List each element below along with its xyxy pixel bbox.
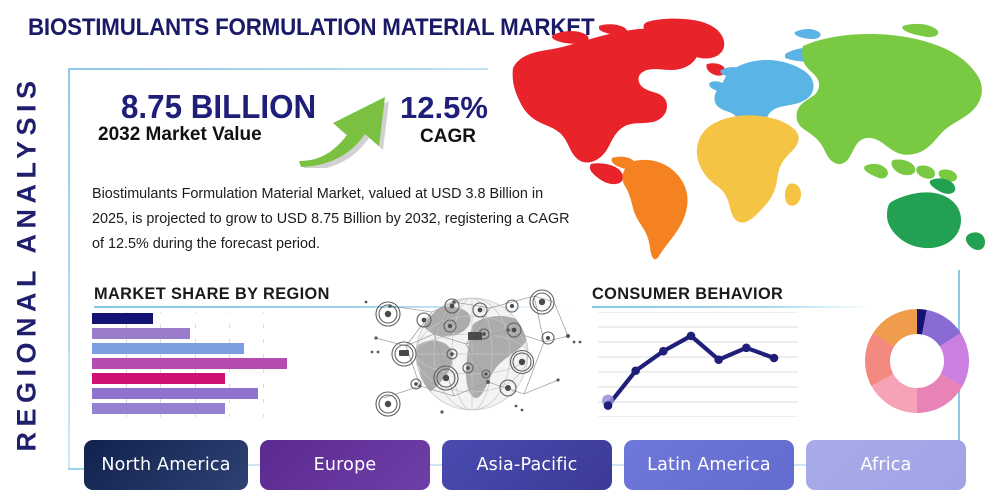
hero-stats: 8.75 BILLION 2032 Market Value 12.5% CAG… bbox=[95, 88, 515, 173]
map-region-south-america bbox=[611, 157, 687, 260]
region-tabs: North AmericaEuropeAsia-PacificLatin Ame… bbox=[84, 440, 956, 490]
bar-item bbox=[92, 328, 190, 339]
map-region-oceania bbox=[887, 178, 985, 250]
cagr-figure: 12.5% bbox=[400, 90, 488, 126]
market-share-bar-chart bbox=[92, 312, 297, 417]
line-chart-svg bbox=[598, 312, 798, 417]
tab-connector bbox=[794, 464, 806, 466]
region-tab-label: Europe bbox=[314, 455, 377, 475]
region-tab-north-america[interactable]: North America bbox=[84, 440, 248, 490]
frame-top-border bbox=[68, 68, 488, 70]
market-value-figure: 8.75 BILLION bbox=[121, 88, 316, 126]
map-region-africa bbox=[697, 115, 801, 222]
line-data-point bbox=[659, 347, 668, 356]
consumer-behavior-line-chart bbox=[598, 312, 798, 417]
bar-item bbox=[92, 343, 244, 354]
region-tab-europe[interactable]: Europe bbox=[260, 440, 430, 490]
region-tab-asia-pacific[interactable]: Asia-Pacific bbox=[442, 440, 612, 490]
consumer-behavior-heading: CONSUMER BEHAVIOR bbox=[592, 284, 783, 304]
tab-connector bbox=[612, 464, 624, 466]
line-data-point bbox=[687, 332, 696, 341]
bar-item bbox=[92, 373, 225, 384]
world-map bbox=[495, 12, 995, 274]
bar-item bbox=[92, 358, 287, 369]
region-tab-label: North America bbox=[101, 455, 230, 475]
region-tab-label: Latin America bbox=[647, 455, 771, 475]
region-tab-africa[interactable]: Africa bbox=[806, 440, 966, 490]
regional-analysis-side-label: REGIONAL ANALYSIS bbox=[4, 58, 50, 468]
line-data-point bbox=[631, 366, 640, 375]
bar-item bbox=[92, 313, 153, 324]
line-data-point bbox=[604, 401, 613, 410]
region-tab-label: Africa bbox=[860, 455, 911, 475]
market-share-heading: MARKET SHARE BY REGION bbox=[94, 284, 330, 304]
segment-donut-chart bbox=[862, 306, 972, 416]
tab-connector bbox=[430, 464, 442, 466]
consumer-behavior-rule bbox=[592, 306, 872, 308]
map-region-asia bbox=[796, 24, 981, 182]
region-tab-label: Asia-Pacific bbox=[476, 455, 577, 475]
frame-left-border bbox=[68, 68, 70, 470]
side-label-text: REGIONAL ANALYSIS bbox=[12, 75, 43, 451]
line-data-point bbox=[742, 344, 751, 353]
cagr-label: CAGR bbox=[420, 126, 476, 148]
donut-chart-svg bbox=[862, 306, 972, 416]
tab-connector bbox=[248, 464, 260, 466]
line-data-point bbox=[714, 355, 723, 364]
bar-item bbox=[92, 403, 225, 414]
region-tab-latin-america[interactable]: Latin America bbox=[624, 440, 794, 490]
growth-arrow-icon bbox=[293, 83, 403, 168]
line-data-point bbox=[770, 354, 779, 363]
globe-network-icon bbox=[358, 286, 586, 426]
market-value-label: 2032 Market Value bbox=[98, 124, 262, 146]
bar-item bbox=[92, 388, 258, 399]
